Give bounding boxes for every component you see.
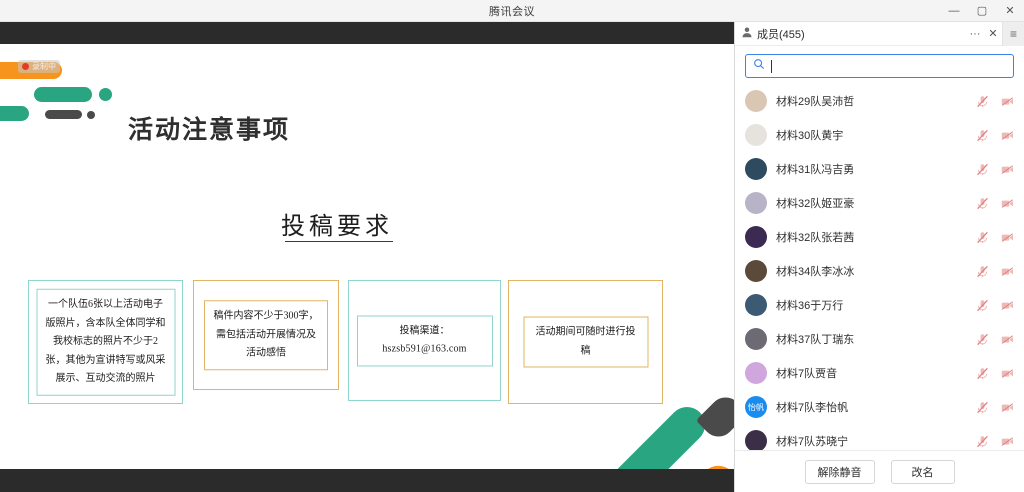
participant-name: 材料32队张若茜 xyxy=(776,229,967,245)
mic-muted-icon xyxy=(976,435,989,448)
participant-status-icons xyxy=(976,163,1014,176)
window-title: 腾讯会议 xyxy=(489,3,535,19)
participant-name: 材料7队贾音 xyxy=(776,365,967,381)
avatar xyxy=(745,294,767,316)
participant-status-icons xyxy=(976,435,1014,448)
search-box[interactable] xyxy=(745,54,1014,78)
participant-status-icons xyxy=(976,367,1014,380)
participant-row[interactable]: 材料32队张若茜 xyxy=(735,220,1024,254)
mic-muted-icon xyxy=(976,299,989,312)
participant-status-icons xyxy=(976,95,1014,108)
participant-row[interactable]: 材料36于万行 xyxy=(735,288,1024,322)
share-top-band xyxy=(0,22,734,44)
submission-email: hszsb591@163.com xyxy=(365,341,485,360)
participants-panel-footer: 解除静音 改名 xyxy=(735,450,1024,492)
window-controls: — ▢ ✕ xyxy=(940,0,1024,22)
search-icon xyxy=(753,57,765,75)
text-caret xyxy=(771,60,772,73)
avatar xyxy=(745,260,767,282)
avatar xyxy=(745,158,767,180)
participant-name: 材料36于万行 xyxy=(776,297,967,313)
slide-card-text: 活动期间可随时进行投稿 xyxy=(523,317,648,368)
avatar xyxy=(745,362,767,384)
participant-name: 材料32队姬亚豪 xyxy=(776,195,967,211)
participants-count-title: 成员(455) xyxy=(757,26,805,42)
participant-row[interactable]: 材料34队李冰冰 xyxy=(735,254,1024,288)
close-button[interactable]: ✕ xyxy=(996,0,1024,22)
participant-name: 材料34队李冰冰 xyxy=(776,263,967,279)
participant-status-icons xyxy=(976,265,1014,278)
participants-panel: 成员(455) ··· ✕ ≡ 材料29队吴沛哲材料30队黄宇材料31队冯吉勇材… xyxy=(734,22,1024,492)
slide-card-text: 投稿渠道： hszsb591@163.com xyxy=(357,315,493,366)
slide-card-text: 稿件内容不少于300字，需包括活动开展情况及活动感悟 xyxy=(204,300,328,370)
participant-row[interactable]: 材料30队黄宇 xyxy=(735,118,1024,152)
avatar xyxy=(745,430,767,450)
participant-name: 材料29队吴沛哲 xyxy=(776,93,967,109)
participant-name: 材料7队李怡帆 xyxy=(776,399,967,415)
participant-row[interactable]: 材料31队冯吉勇 xyxy=(735,152,1024,186)
camera-off-icon xyxy=(1001,163,1014,176)
participants-panel-header: 成员(455) ··· ✕ ≡ xyxy=(735,22,1024,46)
search-input[interactable] xyxy=(778,60,1006,72)
mic-muted-icon xyxy=(976,333,989,346)
slide-card-photo-requirement: 一个队伍6张以上活动电子版照片，含本队全体同学和我校标志的照片不少于2张，其他为… xyxy=(28,280,183,404)
person-icon xyxy=(741,25,753,43)
mic-muted-icon xyxy=(976,401,989,414)
participant-row[interactable]: 材料32队姬亚豪 xyxy=(735,186,1024,220)
participant-row[interactable]: 怡帆材料7队李怡帆 xyxy=(735,390,1024,424)
participant-row[interactable]: 材料7队苏晓宁 xyxy=(735,424,1024,450)
avatar xyxy=(745,328,767,350)
mic-muted-icon xyxy=(976,95,989,108)
slide-card-text: 一个队伍6张以上活动电子版照片，含本队全体同学和我校标志的照片不少于2张，其他为… xyxy=(36,289,175,396)
participant-name: 材料7队苏晓宁 xyxy=(776,433,967,449)
participant-status-icons xyxy=(976,401,1014,414)
participant-row[interactable]: 材料29队吴沛哲 xyxy=(735,84,1024,118)
avatar: 怡帆 xyxy=(745,396,767,418)
mic-muted-icon xyxy=(976,367,989,380)
avatar xyxy=(745,124,767,146)
slide-card-article-requirement: 稿件内容不少于300字，需包括活动开展情况及活动感悟 xyxy=(193,280,339,390)
shared-screen-area[interactable]: 录制中 活动注意事项 投稿要求 一个队伍6张以上活动电子版照片，含本队全体同学和… xyxy=(0,22,734,492)
participant-name: 材料37队丁瑞东 xyxy=(776,331,967,347)
mic-muted-icon xyxy=(976,231,989,244)
unmute-button[interactable]: 解除静音 xyxy=(805,460,875,484)
avatar xyxy=(745,192,767,214)
participant-status-icons xyxy=(976,299,1014,312)
rename-button[interactable]: 改名 xyxy=(891,460,955,484)
mic-muted-icon xyxy=(976,129,989,142)
more-options-icon[interactable]: ··· xyxy=(966,22,984,46)
camera-off-icon xyxy=(1001,299,1014,312)
search-container xyxy=(735,46,1024,84)
participant-row[interactable]: 材料7队贾音 xyxy=(735,356,1024,390)
submission-channel-label: 投稿渠道： xyxy=(365,322,485,341)
participant-status-icons xyxy=(976,333,1014,346)
mic-muted-icon xyxy=(976,163,989,176)
presentation-slide: 录制中 活动注意事项 投稿要求 一个队伍6张以上活动电子版照片，含本队全体同学和… xyxy=(0,44,734,469)
camera-off-icon xyxy=(1001,265,1014,278)
camera-off-icon xyxy=(1001,231,1014,244)
close-panel-icon[interactable]: ✕ xyxy=(984,22,1002,46)
participant-status-icons xyxy=(976,129,1014,142)
minimize-button[interactable]: — xyxy=(940,0,968,22)
tencent-meeting-window: 腾讯会议 — ▢ ✕ 录制中 活动注意事项 投稿要求 xyxy=(0,0,1024,492)
panel-menu-icon[interactable]: ≡ xyxy=(1002,22,1024,46)
slide-card-group: 一个队伍6张以上活动电子版照片，含本队全体同学和我校标志的照片不少于2张，其他为… xyxy=(0,44,734,469)
participant-status-icons xyxy=(976,197,1014,210)
title-bar: 腾讯会议 — ▢ ✕ xyxy=(0,0,1024,22)
participant-row[interactable]: 材料37队丁瑞东 xyxy=(735,322,1024,356)
slide-card-submission-period: 活动期间可随时进行投稿 xyxy=(508,280,663,404)
camera-off-icon xyxy=(1001,197,1014,210)
participants-list[interactable]: 材料29队吴沛哲材料30队黄宇材料31队冯吉勇材料32队姬亚豪材料32队张若茜材… xyxy=(735,84,1024,450)
camera-off-icon xyxy=(1001,129,1014,142)
camera-off-icon xyxy=(1001,333,1014,346)
mic-muted-icon xyxy=(976,197,989,210)
avatar xyxy=(745,90,767,112)
camera-off-icon xyxy=(1001,95,1014,108)
participant-name: 材料30队黄宇 xyxy=(776,127,967,143)
camera-off-icon xyxy=(1001,401,1014,414)
slide-card-submission-channel: 投稿渠道： hszsb591@163.com xyxy=(348,280,501,401)
camera-off-icon xyxy=(1001,367,1014,380)
maximize-button[interactable]: ▢ xyxy=(968,0,996,22)
mic-muted-icon xyxy=(976,265,989,278)
participant-name: 材料31队冯吉勇 xyxy=(776,161,967,177)
camera-off-icon xyxy=(1001,435,1014,448)
participant-status-icons xyxy=(976,231,1014,244)
avatar xyxy=(745,226,767,248)
